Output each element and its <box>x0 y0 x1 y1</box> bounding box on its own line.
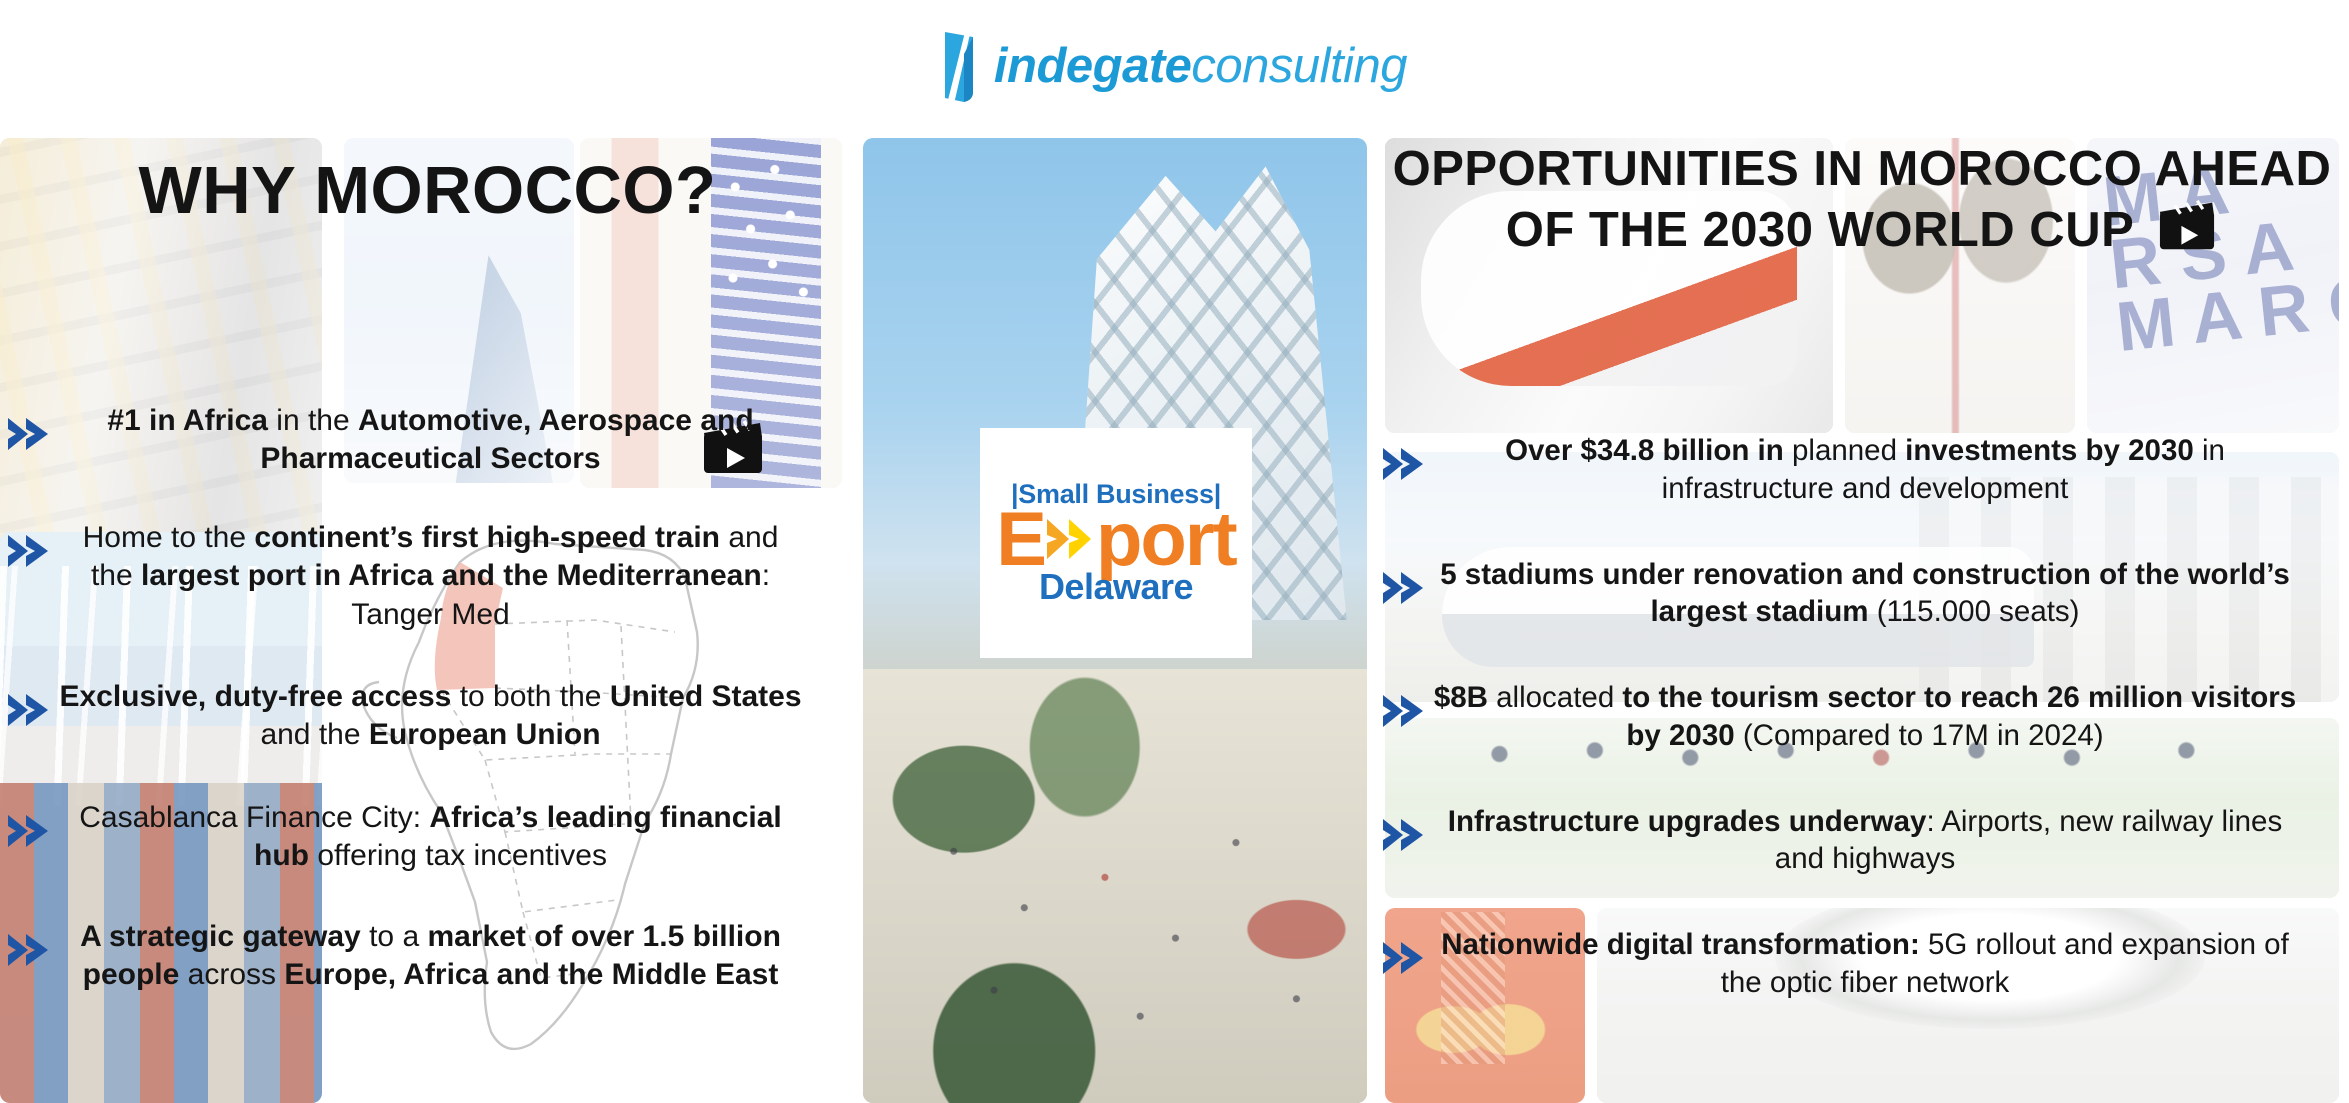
export-logo-port-text: port <box>1096 508 1236 573</box>
left-bullet-list: #1 in Africa in the Automotive, Aerospac… <box>0 402 855 1028</box>
left-bullet-item: A strategic gateway to a market of over … <box>0 918 855 995</box>
brand-logo: indegateconsulting <box>942 28 1407 104</box>
right-bullet-text: $8B allocated to the tourism sector to r… <box>1433 679 2349 755</box>
blue-double-chevron-icon <box>1375 803 1433 853</box>
blue-double-chevron-icon <box>0 918 58 968</box>
left-bullet-text: A strategic gateway to a market of over … <box>58 918 855 995</box>
right-bullet-text: 5 stadiums under renovation and construc… <box>1433 556 2349 632</box>
export-delaware-logo: |Small Business| E port Delaware <box>996 481 1235 605</box>
left-bullet-item: Casablanca Finance City: Africa’s leadin… <box>0 799 855 876</box>
brand-name-bold: indegate <box>994 39 1191 93</box>
right-panel-headline: OPPORTUNITIES IN MOROCCO AHEAD OF THE 20… <box>1375 142 2349 265</box>
right-bullet-text: Nationwide digital transformation: 5G ro… <box>1433 926 2349 1002</box>
header-bar: indegateconsulting <box>0 0 2349 132</box>
right-headline-line2: OF THE 2030 WORLD CUP <box>1506 203 2135 258</box>
left-headline-text: WHY MOROCCO? <box>139 153 717 228</box>
blue-double-chevron-icon <box>0 402 58 452</box>
left-panel-headline: WHY MOROCCO? <box>0 157 855 225</box>
right-headline-line1: OPPORTUNITIES IN MOROCCO AHEAD <box>1375 142 2349 197</box>
clapperboard-icon[interactable] <box>2156 197 2218 265</box>
left-bullet-text: Exclusive, duty-free access to both the … <box>58 678 855 755</box>
indegate-logo-mark-icon <box>942 28 976 104</box>
export-logo-e-letter: E <box>996 508 1047 573</box>
left-bullet-text: Home to the continent’s first high-speed… <box>58 519 855 634</box>
brand-name-light: consulting <box>1191 39 1407 93</box>
urban-plaza-street-photo <box>863 669 1367 1103</box>
blue-double-chevron-icon <box>0 799 58 849</box>
blue-double-chevron-icon <box>1375 556 1433 606</box>
blue-double-chevron-icon <box>1375 679 1433 729</box>
center-panel: |Small Business| E port Delaware <box>855 132 1375 1103</box>
right-bullet-item: Infrastructure upgrades underway: Airpor… <box>1375 803 2349 879</box>
left-bullet-item: Exclusive, duty-free access to both the … <box>0 678 855 755</box>
slide-root: indegateconsulting <box>0 0 2349 1103</box>
left-bullet-item: Home to the continent’s first high-speed… <box>0 519 855 634</box>
blue-double-chevron-icon <box>0 519 58 569</box>
left-bullet-item: #1 in Africa in the Automotive, Aerospac… <box>0 402 855 479</box>
double-chevron-icon <box>1045 513 1095 565</box>
export-delaware-logo-card: |Small Business| E port Delaware <box>980 428 1252 658</box>
right-bullet-item: Nationwide digital transformation: 5G ro… <box>1375 926 2349 1002</box>
right-bullet-text: Infrastructure upgrades underway: Airpor… <box>1433 803 2349 879</box>
left-panel: WHY MOROCCO? #1 in Africa in the Automot… <box>0 132 855 1103</box>
panels-container: WHY MOROCCO? #1 in Africa in the Automot… <box>0 132 2349 1103</box>
brand-wordmark: indegateconsulting <box>994 42 1407 91</box>
right-bullet-text: Over $34.8 billion in planned investment… <box>1433 432 2349 508</box>
right-bullet-item: Over $34.8 billion in planned investment… <box>1375 432 2349 508</box>
right-bullet-item: 5 stadiums under renovation and construc… <box>1375 556 2349 632</box>
left-bullet-text: #1 in Africa in the Automotive, Aerospac… <box>58 402 855 479</box>
blue-double-chevron-icon <box>1375 432 1433 482</box>
right-bullet-list: Over $34.8 billion in planned investment… <box>1375 432 2349 1050</box>
right-bullet-item: $8B allocated to the tourism sector to r… <box>1375 679 2349 755</box>
left-bullet-text: Casablanca Finance City: Africa’s leadin… <box>58 799 855 876</box>
blue-double-chevron-icon <box>0 678 58 728</box>
blue-double-chevron-icon <box>1375 926 1433 976</box>
